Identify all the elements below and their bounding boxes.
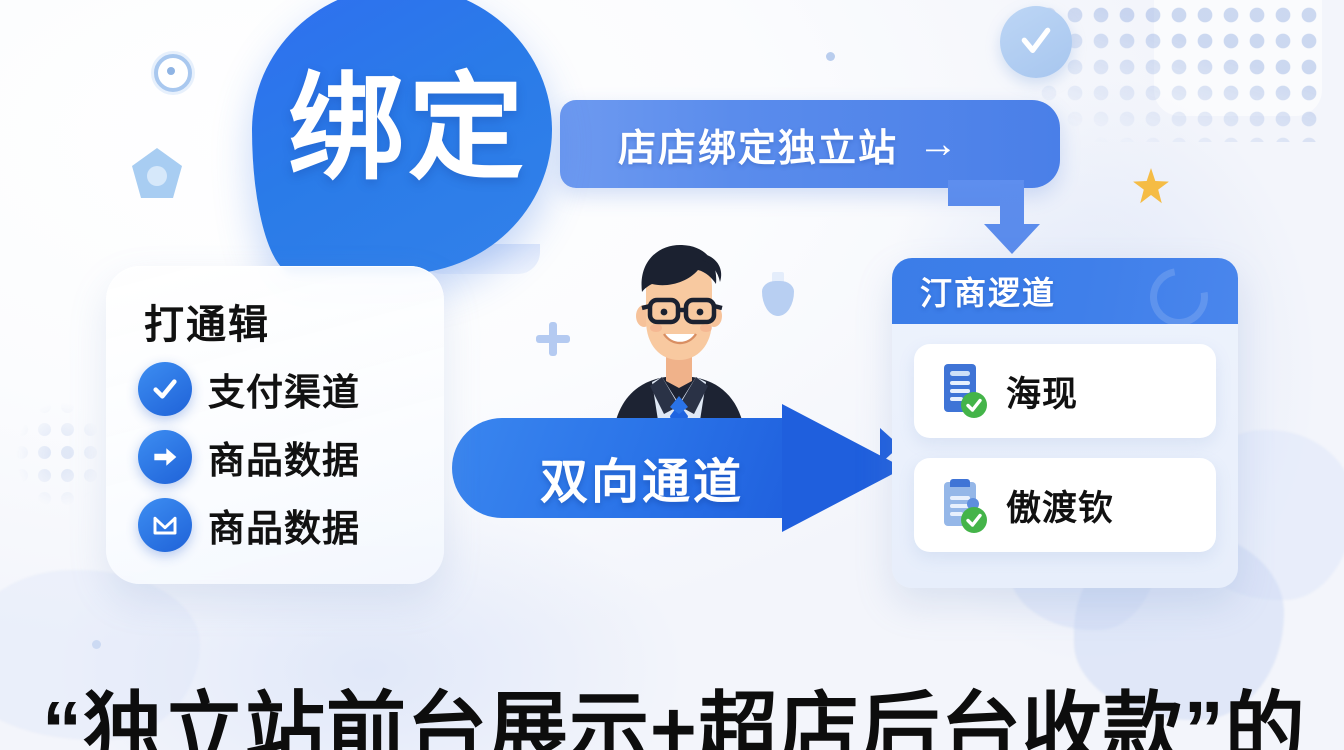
list-item[interactable]: 傲渡钦 — [914, 458, 1216, 552]
arrow-right-circle-icon — [138, 430, 192, 484]
list-item[interactable]: 商品数据 — [138, 430, 360, 484]
decor-dot-icon-2 — [92, 640, 101, 649]
ring-icon — [154, 54, 192, 92]
clipboard-check-icon — [940, 476, 988, 534]
arrow-head — [782, 404, 904, 532]
check-circle-badge-icon — [1000, 6, 1072, 78]
envelope-check-circle-icon — [138, 498, 192, 552]
merchant-panel-body: 海现 傲渡钦 — [892, 324, 1238, 572]
list-item[interactable]: 商品数据 — [138, 498, 360, 552]
list-item-label: 支付渠道 — [208, 362, 360, 416]
banner-label: 店店绑定独立站 — [618, 117, 898, 172]
capabilities-list: 支付渠道 商品数据 商品数据 — [138, 362, 360, 552]
plus-icon — [536, 322, 570, 356]
document-check-icon — [940, 362, 988, 420]
dot-grid-pattern-left-icon — [10, 395, 110, 515]
binding-banner[interactable]: 店店绑定独立站 → — [560, 100, 1060, 188]
arrow-label: 双向通道 — [540, 442, 744, 512]
list-item-label: 傲渡钦 — [1006, 480, 1114, 531]
capabilities-card: 打通辑 支付渠道 商品数据 — [106, 266, 444, 584]
check-circle-icon — [138, 362, 192, 416]
infographic-canvas: 店店绑定独立站 → 绑定 — [0, 0, 1344, 750]
list-item[interactable]: 海现 — [914, 344, 1216, 438]
banner-down-arrow-icon — [1000, 184, 1024, 226]
list-item-label: 商品数据 — [208, 498, 360, 552]
arrow-right-icon: → — [918, 124, 958, 164]
list-item-label: 海现 — [1006, 366, 1078, 417]
list-item[interactable]: 支付渠道 — [138, 362, 360, 416]
capabilities-card-title: 打通辑 — [144, 292, 270, 350]
bidirectional-channel-arrow: 双向通道 — [452, 404, 904, 532]
page-caption: “独立站前台展示+超店后台收款”的 — [42, 688, 1312, 750]
decor-dot-icon — [826, 52, 835, 61]
headline-text: 绑定 — [288, 70, 528, 186]
dot-grid-pattern-icon — [1036, 2, 1326, 142]
flask-icon — [762, 272, 794, 316]
merchant-panel-title: 汀商逻道 — [920, 268, 1056, 314]
merchant-panel: 汀商逻道 海现 — [892, 258, 1238, 588]
list-item-label: 商品数据 — [208, 430, 360, 484]
merchant-panel-header: 汀商逻道 — [892, 258, 1238, 324]
